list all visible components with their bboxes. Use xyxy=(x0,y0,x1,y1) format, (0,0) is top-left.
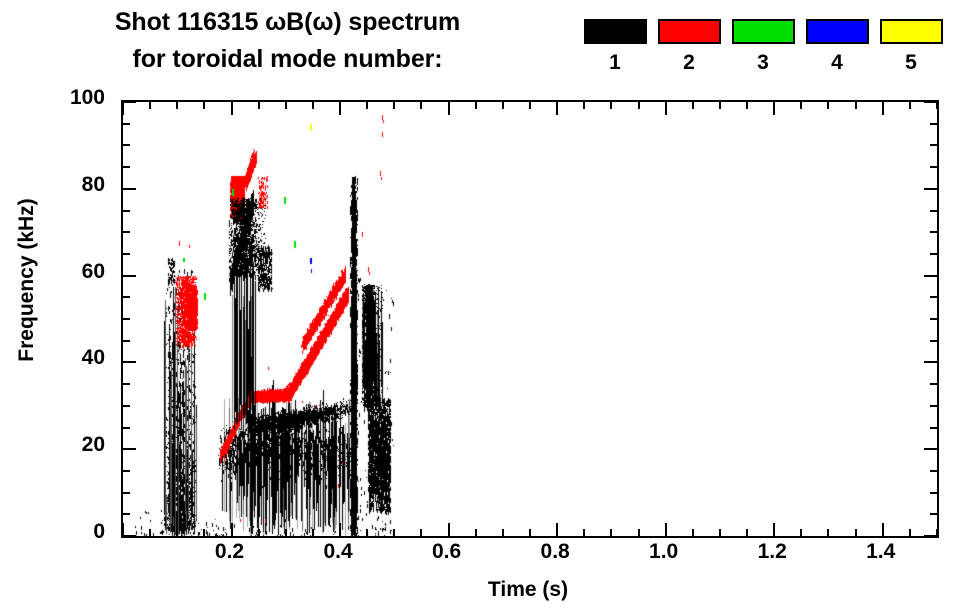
y-axis-tick xyxy=(930,513,937,515)
legend-swatch-1 xyxy=(584,19,647,44)
x-axis-tick xyxy=(800,102,802,109)
x-axis-tick xyxy=(638,529,640,536)
x-tick-label: 1.0 xyxy=(624,540,704,564)
y-axis-tick xyxy=(930,123,937,125)
y-axis-tick xyxy=(930,405,937,407)
y-axis-tick xyxy=(924,101,937,103)
x-axis-tick xyxy=(366,102,368,109)
y-axis-tick xyxy=(930,492,937,494)
y-axis-tick xyxy=(930,144,937,146)
y-tick-label: 20 xyxy=(25,433,105,457)
legend-swatch-2 xyxy=(658,19,721,44)
x-axis-tick xyxy=(610,529,612,536)
x-axis-tick xyxy=(529,102,531,109)
x-axis-tick xyxy=(149,529,151,536)
y-axis-tick xyxy=(123,405,130,407)
x-axis-tick xyxy=(773,102,775,115)
legend-swatch-4 xyxy=(806,19,869,44)
x-axis-tick xyxy=(502,529,504,536)
y-axis-tick xyxy=(930,296,937,298)
y-axis-tick xyxy=(123,296,130,298)
y-axis-tick xyxy=(123,166,130,168)
spectrogram-canvas xyxy=(123,102,937,536)
y-axis-tick xyxy=(123,275,136,277)
y-axis-tick xyxy=(930,166,937,168)
x-axis-tick xyxy=(909,529,911,536)
legend-entry-2: 2 xyxy=(655,0,723,75)
y-axis-tick xyxy=(123,383,130,385)
x-tick-label: 1.2 xyxy=(732,540,812,564)
legend-entry-4: 4 xyxy=(803,0,871,75)
y-axis-tick xyxy=(123,253,130,255)
x-axis-tick xyxy=(203,102,205,109)
x-axis-tick xyxy=(692,102,694,109)
legend-entry-1: 1 xyxy=(581,0,649,75)
x-axis-tick xyxy=(746,102,748,109)
x-axis-tick xyxy=(665,523,667,536)
x-tick-label: 1.4 xyxy=(841,540,921,564)
y-axis-tick xyxy=(123,318,130,320)
x-axis-tick xyxy=(909,102,911,109)
y-axis-tick xyxy=(930,340,937,342)
y-axis-tick xyxy=(123,123,130,125)
x-axis-tick xyxy=(258,102,260,109)
legend-label-3: 3 xyxy=(729,51,797,75)
y-axis-tick xyxy=(123,101,136,103)
x-axis-tick xyxy=(827,102,829,109)
x-axis-tick xyxy=(773,523,775,536)
y-axis-tick xyxy=(123,535,136,537)
mode-number-legend: 12345 xyxy=(575,0,963,92)
x-axis-tick xyxy=(855,529,857,536)
x-axis-tick xyxy=(556,523,558,536)
x-axis-tick xyxy=(312,102,314,109)
x-axis-tick xyxy=(827,529,829,536)
spectrogram-figure: Shot 116315 ωB(ω) spectrum for toroidal … xyxy=(0,0,963,615)
x-axis-tick xyxy=(583,102,585,109)
x-axis-tick xyxy=(583,529,585,536)
y-axis-tick xyxy=(123,470,130,472)
legend-label-1: 1 xyxy=(581,51,649,75)
y-axis-tick xyxy=(924,361,937,363)
x-axis-tick xyxy=(149,102,151,109)
x-axis-tick xyxy=(285,529,287,536)
title-line-2: for toroidal mode number: xyxy=(0,41,575,78)
x-tick-label: 0.6 xyxy=(407,540,487,564)
x-tick-label: 0.4 xyxy=(298,540,378,564)
x-axis-tick xyxy=(556,102,558,115)
y-axis-tick xyxy=(123,492,130,494)
x-axis-tick xyxy=(203,529,205,536)
x-axis-tick xyxy=(610,102,612,109)
x-axis-tick xyxy=(176,529,178,536)
legend-entry-5: 5 xyxy=(877,0,945,75)
y-axis-tick xyxy=(930,383,937,385)
y-axis-tick xyxy=(123,427,130,429)
x-axis-tick xyxy=(231,523,233,536)
x-tick-label: 0.2 xyxy=(190,540,270,564)
x-axis-tick xyxy=(692,529,694,536)
y-axis-tick xyxy=(930,253,937,255)
x-axis-tick xyxy=(719,529,721,536)
x-axis-tick xyxy=(285,102,287,109)
y-axis-tick xyxy=(924,535,937,537)
x-axis-tick xyxy=(366,529,368,536)
y-axis-tick xyxy=(123,513,130,515)
x-tick-label: 0.8 xyxy=(515,540,595,564)
y-axis-tick xyxy=(930,470,937,472)
y-tick-label: 80 xyxy=(25,173,105,197)
x-axis-tick xyxy=(420,102,422,109)
legend-label-4: 4 xyxy=(803,51,871,75)
legend-swatch-3 xyxy=(732,19,795,44)
x-axis-tick xyxy=(258,529,260,536)
y-axis-tick xyxy=(123,448,136,450)
y-axis-tick xyxy=(930,210,937,212)
y-axis-tick xyxy=(123,361,136,363)
x-axis-tick xyxy=(529,529,531,536)
y-tick-label: 40 xyxy=(25,346,105,370)
x-axis-tick xyxy=(746,529,748,536)
figure-title: Shot 116315 ωB(ω) spectrum for toroidal … xyxy=(0,4,575,78)
x-axis-tick xyxy=(475,102,477,109)
x-axis-tick xyxy=(393,102,395,109)
y-tick-label: 60 xyxy=(25,260,105,284)
legend-entry-3: 3 xyxy=(729,0,797,75)
legend-label-5: 5 xyxy=(877,51,945,75)
x-axis-tick xyxy=(420,529,422,536)
y-axis-tick xyxy=(123,231,130,233)
x-axis-tick xyxy=(312,529,314,536)
x-axis-tick xyxy=(936,102,938,109)
y-axis-tick xyxy=(123,144,130,146)
x-axis-tick xyxy=(339,102,341,115)
x-axis-tick xyxy=(475,529,477,536)
x-axis-tick xyxy=(176,102,178,109)
y-axis-tick xyxy=(930,318,937,320)
x-axis-tick xyxy=(393,529,395,536)
title-line-1: Shot 116315 ωB(ω) spectrum xyxy=(0,4,575,41)
legend-label-2: 2 xyxy=(655,51,723,75)
x-axis-tick xyxy=(665,102,667,115)
x-axis-tick xyxy=(719,102,721,109)
x-axis-tick xyxy=(448,523,450,536)
y-axis-tick xyxy=(930,231,937,233)
x-axis-tick xyxy=(231,102,233,115)
x-axis-tick xyxy=(855,102,857,109)
y-tick-label: 100 xyxy=(25,86,105,110)
x-axis-tick xyxy=(882,102,884,115)
y-axis-tick xyxy=(924,275,937,277)
y-axis-tick xyxy=(930,427,937,429)
y-axis-tick xyxy=(924,448,937,450)
x-axis-tick xyxy=(502,102,504,109)
plot-area xyxy=(121,100,939,538)
x-axis-tick xyxy=(800,529,802,536)
x-axis-tick xyxy=(339,523,341,536)
y-axis-tick xyxy=(123,188,136,190)
x-axis-tick xyxy=(448,102,450,115)
y-axis-tick xyxy=(123,340,130,342)
x-axis-tick xyxy=(882,523,884,536)
y-axis-tick xyxy=(123,210,130,212)
x-axis-title: Time (s) xyxy=(121,578,935,602)
x-axis-tick xyxy=(638,102,640,109)
y-axis-tick xyxy=(924,188,937,190)
legend-swatch-5 xyxy=(880,19,943,44)
x-axis-tick xyxy=(122,102,124,115)
y-tick-label: 0 xyxy=(25,520,105,544)
